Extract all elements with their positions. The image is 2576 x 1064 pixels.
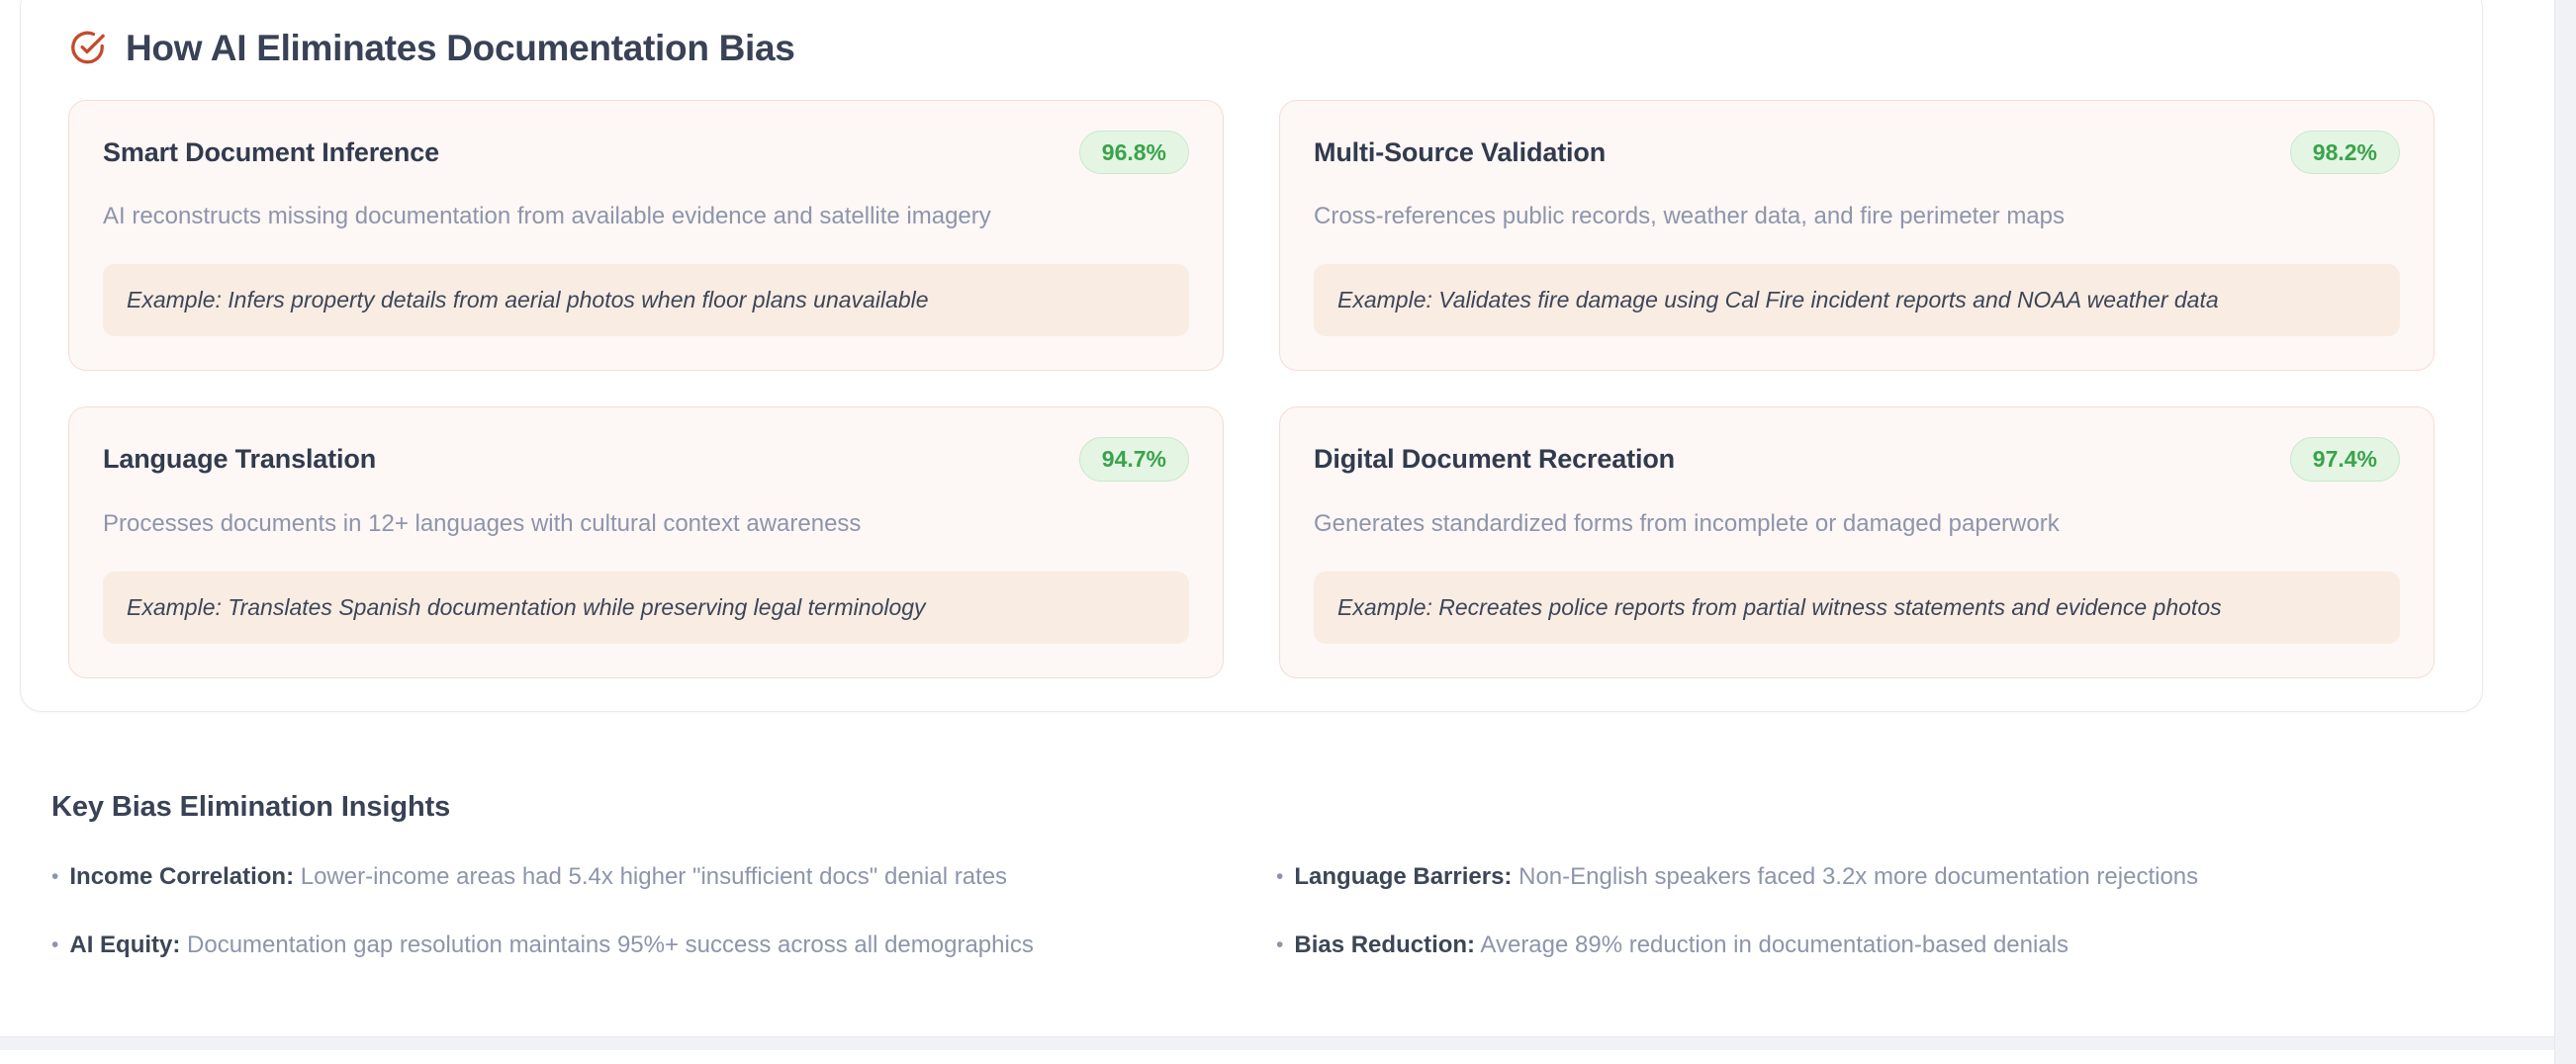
insight-body: Income Correlation: Lower-income areas h… xyxy=(69,861,1007,892)
insights-title: Key Bias Elimination Insights xyxy=(51,791,2445,824)
insight-value: Average 89% reduction in documentation-b… xyxy=(1475,931,2069,958)
page-content: How AI Eliminates Documentation Bias Sma… xyxy=(0,0,2554,1050)
insight-item-income-correlation: • Income Correlation: Lower-income areas… xyxy=(51,861,1221,892)
insight-label: AI Equity: xyxy=(69,931,180,958)
bullet-icon: • xyxy=(1276,934,1283,955)
accuracy-badge: 98.2% xyxy=(2290,131,2400,174)
accuracy-badge: 96.8% xyxy=(1079,131,1189,174)
insight-value: Non-English speakers faced 3.2x more doc… xyxy=(1512,863,2198,890)
insight-body: Language Barriers: Non-English speakers … xyxy=(1294,861,2198,892)
feature-card-grid: Smart Document Inference 96.8% AI recons… xyxy=(68,100,2435,678)
insight-item-bias-reduction: • Bias Reduction: Average 89% reduction … xyxy=(1276,930,2445,960)
card-header: Language Translation 94.7% xyxy=(103,437,1189,481)
circle-check-icon xyxy=(68,29,106,66)
card-title: Multi-Source Validation xyxy=(1314,136,1606,168)
accuracy-badge: 97.4% xyxy=(2290,437,2400,481)
documentation-bias-panel: How AI Eliminates Documentation Bias Sma… xyxy=(20,0,2483,712)
card-description: Cross-references public records, weather… xyxy=(1314,200,2400,234)
card-description: Generates standardized forms from incomp… xyxy=(1314,507,2400,542)
page-title: How AI Eliminates Documentation Bias xyxy=(126,30,795,66)
card-title: Language Translation xyxy=(103,443,376,475)
feature-card-smart-document-inference[interactable]: Smart Document Inference 96.8% AI recons… xyxy=(68,100,1224,371)
card-header: Smart Document Inference 96.8% xyxy=(103,131,1189,174)
page-scrollbar-track[interactable] xyxy=(2554,0,2576,1064)
insight-value: Documentation gap resolution maintains 9… xyxy=(180,931,1033,958)
card-header: Multi-Source Validation 98.2% xyxy=(1314,131,2400,174)
card-header: Digital Document Recreation 97.4% xyxy=(1314,437,2400,481)
insight-item-language-barriers: • Language Barriers: Non-English speaker… xyxy=(1276,861,2445,892)
panel-header: How AI Eliminates Documentation Bias xyxy=(68,0,2435,100)
feature-card-multi-source-validation[interactable]: Multi-Source Validation 98.2% Cross-refe… xyxy=(1279,100,2435,371)
insight-value: Lower-income areas had 5.4x higher "insu… xyxy=(294,863,1007,890)
card-example: Example: Infers property details from ae… xyxy=(103,264,1189,336)
bullet-icon: • xyxy=(51,934,58,955)
insight-body: Bias Reduction: Average 89% reduction in… xyxy=(1294,930,2069,960)
bullet-icon: • xyxy=(51,866,58,887)
card-description: AI reconstructs missing documentation fr… xyxy=(103,200,1189,234)
insights-grid: • Income Correlation: Lower-income areas… xyxy=(51,861,2445,960)
insight-label: Bias Reduction: xyxy=(1294,931,1475,958)
card-example: Example: Recreates police reports from p… xyxy=(1314,572,2400,644)
feature-card-language-translation[interactable]: Language Translation 94.7% Processes doc… xyxy=(68,406,1224,677)
key-insights-section: Key Bias Elimination Insights • Income C… xyxy=(51,791,2445,960)
card-title: Digital Document Recreation xyxy=(1314,443,1675,475)
insight-item-ai-equity: • AI Equity: Documentation gap resolutio… xyxy=(51,930,1221,960)
insight-label: Language Barriers: xyxy=(1294,863,1512,890)
card-description: Processes documents in 12+ languages wit… xyxy=(103,507,1189,542)
insight-label: Income Correlation: xyxy=(69,863,294,890)
card-example: Example: Validates fire damage using Cal… xyxy=(1314,264,2400,336)
page-bottom-edge xyxy=(0,1036,2554,1050)
feature-card-digital-document-recreation[interactable]: Digital Document Recreation 97.4% Genera… xyxy=(1279,406,2435,677)
card-title: Smart Document Inference xyxy=(103,136,439,168)
accuracy-badge: 94.7% xyxy=(1079,437,1189,481)
screenshot-root: How AI Eliminates Documentation Bias Sma… xyxy=(0,0,2576,1064)
bullet-icon: • xyxy=(1276,866,1283,887)
card-example: Example: Translates Spanish documentatio… xyxy=(103,572,1189,644)
insight-body: AI Equity: Documentation gap resolution … xyxy=(69,930,1033,960)
